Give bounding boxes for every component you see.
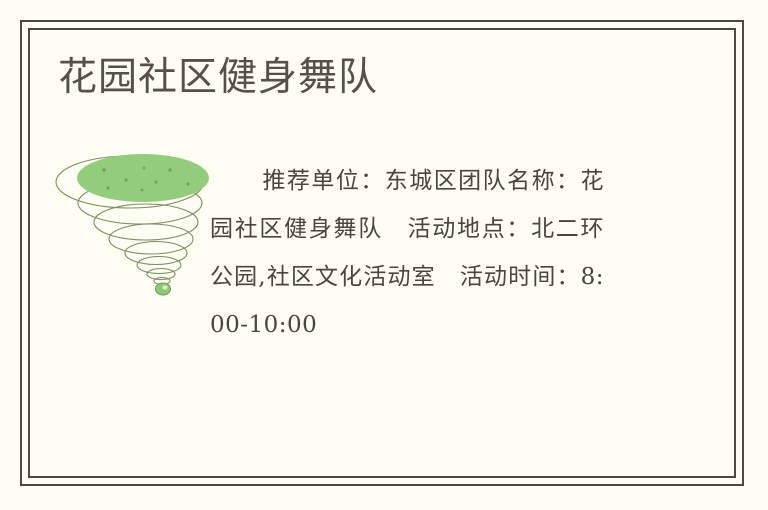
activity-details-paragraph: 推荐单位：东城区团队名称：花园社区健身舞队 活动地点：北二环公园,社区文化活动室… — [210, 157, 604, 349]
info-card: 花园社区健身舞队 — [20, 20, 744, 486]
tornado-icon — [48, 140, 233, 305]
page-title: 花园社区健身舞队 — [58, 54, 378, 102]
